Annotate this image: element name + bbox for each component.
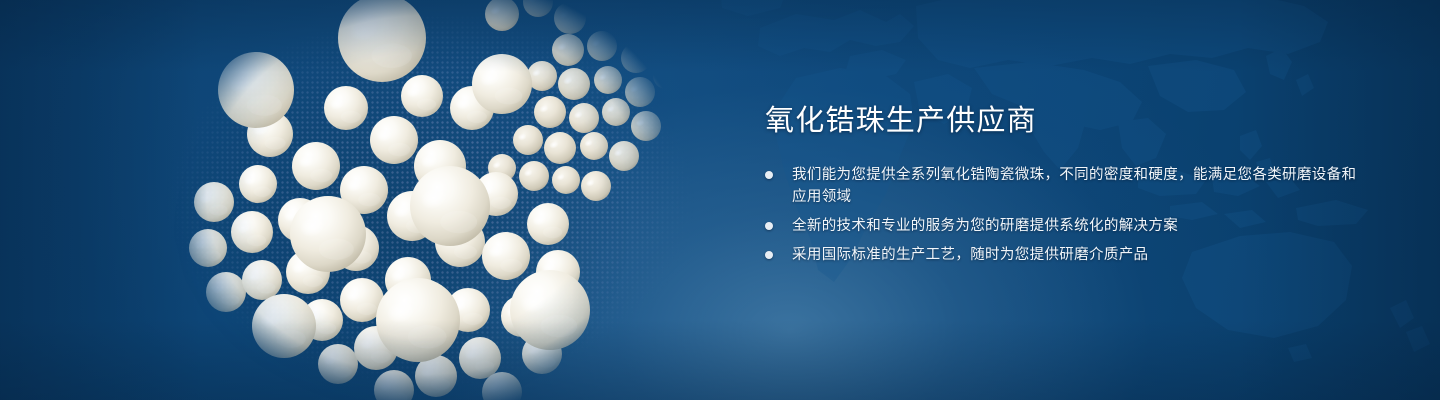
feature-list: 我们能为您提供全系列氧化锆陶瓷微珠，不同的密度和硬度，能满足您各类研磨设备和应用… <box>765 164 1365 266</box>
zirconia-beads-image <box>150 0 710 400</box>
list-item-label: 全新的技术和专业的服务为您的研磨提供系统化的解决方案 <box>792 218 1178 234</box>
bullet-dot-icon <box>765 222 773 230</box>
bullet-dot-icon <box>765 251 773 259</box>
page-title: 氧化锆珠生产供应商 <box>765 105 1365 138</box>
list-item: 采用国际标准的生产工艺，随时为您提供研磨介质产品 <box>765 244 1365 266</box>
bullet-dot-icon <box>765 171 773 179</box>
banner-copy: 氧化锆珠生产供应商 我们能为您提供全系列氧化锆陶瓷微珠，不同的密度和硬度，能满足… <box>765 105 1365 266</box>
hero-banner: 氧化锆珠生产供应商 我们能为您提供全系列氧化锆陶瓷微珠，不同的密度和硬度，能满足… <box>0 0 1440 400</box>
list-item-label: 我们能为您提供全系列氧化锆陶瓷微珠，不同的密度和硬度，能满足您各类研磨设备和应用… <box>792 167 1356 205</box>
list-item: 我们能为您提供全系列氧化锆陶瓷微珠，不同的密度和硬度，能满足您各类研磨设备和应用… <box>765 164 1365 208</box>
list-item: 全新的技术和专业的服务为您的研磨提供系统化的解决方案 <box>765 215 1365 237</box>
list-item-label: 采用国际标准的生产工艺，随时为您提供研磨介质产品 <box>792 247 1148 263</box>
